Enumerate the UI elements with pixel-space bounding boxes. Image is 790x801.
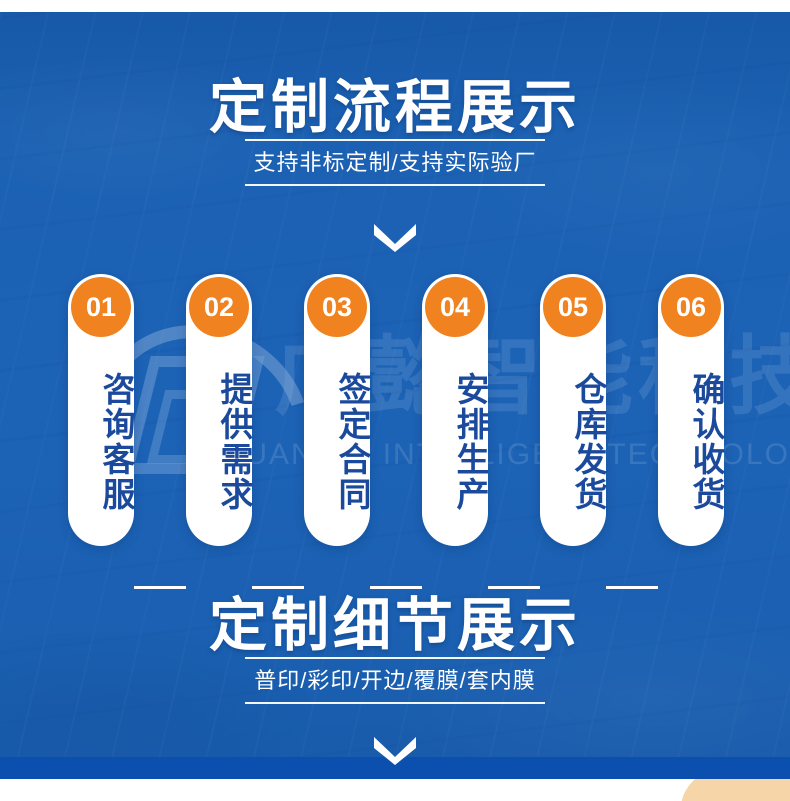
step-connector-1-2 (134, 586, 186, 589)
step-label-6: 确认收货 (658, 346, 724, 538)
details-subtitle-rules: 普印/彩印/开边/覆膜/套内膜 (245, 657, 545, 704)
details-rule-top (245, 657, 545, 659)
process-subtitle: 支持非标定制/支持实际验厂 (245, 141, 545, 184)
step-label-3: 签定合同 (304, 346, 370, 538)
step-number-5: 05 (543, 277, 603, 337)
process-rule-bottom (245, 184, 545, 186)
process-title: 定制流程展示 (0, 78, 790, 139)
step-card-3[interactable]: 03 签定合同 (304, 274, 370, 546)
step-connector-3-4 (370, 586, 422, 589)
step-connector-4-5 (488, 586, 540, 589)
process-subtitle-rules: 支持非标定制/支持实际验厂 (245, 139, 545, 186)
process-heading-block: 定制流程展示 支持非标定制/支持实际验厂 (0, 78, 790, 186)
step-card-2[interactable]: 02 提供需求 (186, 274, 252, 546)
corner-swoosh-shape (679, 779, 790, 801)
step-connector-5-6 (606, 586, 658, 589)
process-rule-top (245, 139, 545, 141)
step-card-6[interactable]: 06 确认收货 (658, 274, 724, 546)
details-heading-block: 定制细节展示 普印/彩印/开边/覆膜/套内膜 (0, 596, 790, 704)
promo-banner-page: 广懿智能科技 GUANGYI INTELLIGENT TECHNOLOGY 定制… (0, 0, 790, 801)
step-card-4[interactable]: 04 安排生产 (422, 274, 488, 546)
bottom-white-strip (0, 779, 790, 801)
chevron-down-icon-top (370, 222, 420, 252)
step-label-4: 安排生产 (422, 346, 488, 538)
step-number-2: 02 (189, 277, 249, 337)
step-card-5[interactable]: 05 仓库发货 (540, 274, 606, 546)
step-label-2: 提供需求 (186, 346, 252, 538)
details-subtitle: 普印/彩印/开边/覆膜/套内膜 (245, 659, 545, 702)
details-rule-bottom (245, 702, 545, 704)
step-number-4: 04 (425, 277, 485, 337)
step-card-1[interactable]: 01 咨询客服 (68, 274, 134, 546)
step-number-3: 03 (307, 277, 367, 337)
step-number-1: 01 (71, 277, 131, 337)
chevron-down-icon-bottom (370, 735, 420, 765)
step-number-6: 06 (661, 277, 721, 337)
step-label-5: 仓库发货 (540, 346, 606, 538)
step-label-1: 咨询客服 (68, 346, 134, 538)
top-white-strip (0, 0, 790, 12)
step-connector-2-3 (252, 586, 304, 589)
details-title: 定制细节展示 (0, 596, 790, 657)
process-steps-row: 01 咨询客服 02 提供需求 03 签定合同 04 安排生产 05 仓库发货 … (68, 274, 722, 546)
